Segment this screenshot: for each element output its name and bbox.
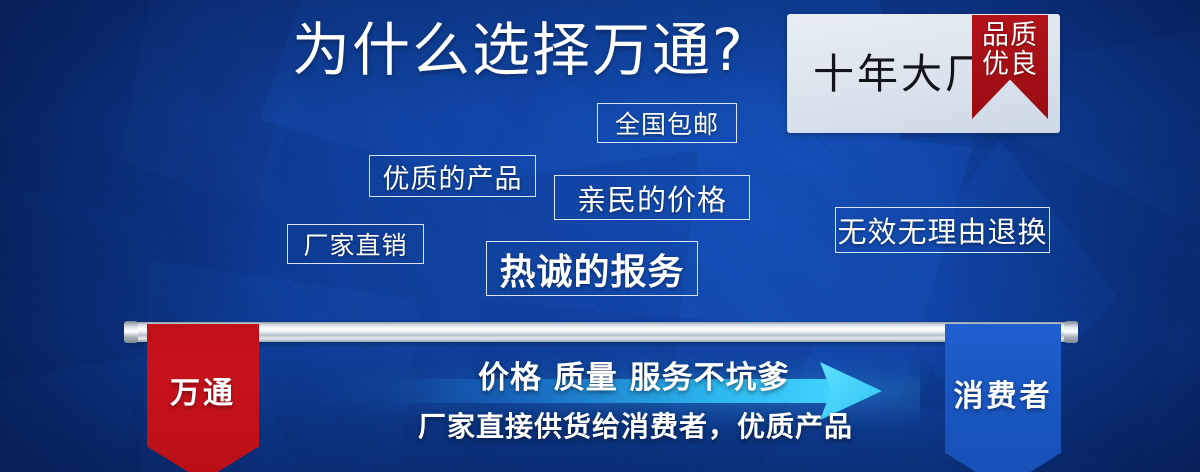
feature-box-nationwide-shipping: 全国包邮 <box>597 103 737 143</box>
feature-box-free-return: 无效无理由退换 <box>835 207 1050 253</box>
ribbon-line-1: 品质 <box>972 21 1048 50</box>
page-title: 为什么选择万通? <box>292 16 745 84</box>
rod-cap-right <box>1064 321 1078 343</box>
feature-box-sincere-service: 热诚的报务 <box>486 241 698 296</box>
flag-source: 万通 <box>147 324 259 472</box>
rod-bar <box>128 322 1076 342</box>
feature-box-fair-price: 亲民的价格 <box>554 175 750 220</box>
badge-main-text: 十年大厂 <box>813 40 989 100</box>
ribbon-text: 品质 优良 <box>972 21 1048 79</box>
feature-box-factory-direct: 厂家直销 <box>287 224 424 264</box>
promo-banner: 为什么选择万通? 十年大厂 品质 优良 全国包邮 优质的产品 亲民的价格 厂家直… <box>0 0 1200 472</box>
slogan-secondary: 厂家直接供货给消费者，优质产品 <box>418 405 853 445</box>
slogan-primary: 价格 质量 服务不坑爹 <box>478 352 790 397</box>
feature-box-quality-product: 优质的产品 <box>369 155 536 197</box>
quality-badge: 十年大厂 品质 优良 <box>787 14 1060 133</box>
ribbon-icon: 品质 优良 <box>972 15 1048 119</box>
ribbon-line-2: 优良 <box>972 50 1048 79</box>
flag-target: 消费者 <box>945 324 1061 472</box>
rod-cap-left <box>124 321 138 343</box>
